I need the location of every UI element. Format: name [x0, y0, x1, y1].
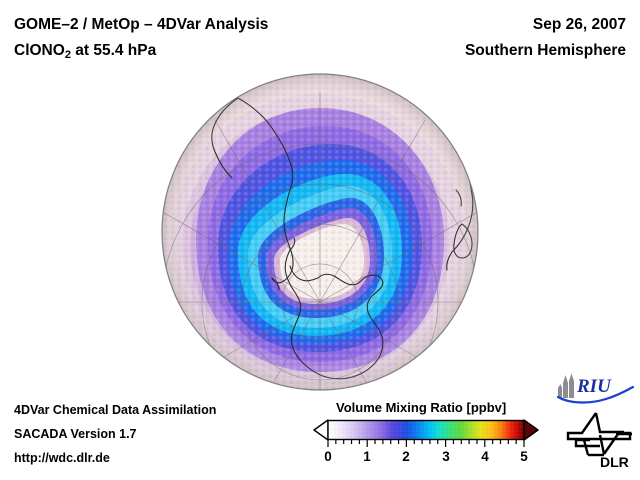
limb-shading	[162, 74, 478, 390]
globe-svg	[160, 72, 480, 392]
footer-line-2: SACADA Version 1.7	[14, 427, 137, 441]
dlr-emblem-icon	[568, 413, 632, 455]
colorbar-tick-5: 5	[520, 449, 528, 464]
colorbar	[312, 418, 540, 442]
riu-logo: RIU	[556, 372, 636, 406]
species-pressure: at 55.4 hPa	[71, 42, 156, 59]
colorbar-tick-3: 3	[442, 449, 450, 464]
footer-line-1: 4DVar Chemical Data Assimilation	[14, 403, 216, 417]
colorbar-tick-1: 1	[363, 449, 371, 464]
polar-globe-map	[160, 72, 480, 392]
footer-url[interactable]: http://wdc.dlr.de	[14, 451, 110, 465]
figure-canvas: GOME–2 / MetOp – 4DVar Analysis ClONO2 a…	[0, 0, 640, 480]
species-name: ClONO	[14, 42, 65, 59]
dlr-logo: DLR	[566, 410, 634, 472]
riu-wordmark: RIU	[576, 376, 612, 397]
date-label: Sep 26, 2007	[533, 16, 626, 34]
colorbar-tick-2: 2	[402, 449, 410, 464]
colorbar-tick-4: 4	[481, 449, 489, 464]
colorbar-title: Volume Mixing Ratio [ppbv]	[336, 400, 506, 415]
colorbar-high-arrow	[524, 420, 538, 440]
dlr-wordmark: DLR	[600, 454, 629, 470]
page-title: GOME–2 / MetOp – 4DVar Analysis	[14, 16, 268, 34]
colorbar-tick-0: 0	[324, 449, 332, 464]
colorbar-low-arrow	[314, 420, 328, 440]
species-subtitle: ClONO2 at 55.4 hPa	[14, 42, 156, 61]
riu-tower-icon	[558, 374, 574, 399]
colorbar-tick-labels: 0 1 2 3 4 5	[300, 449, 552, 469]
hemisphere-label: Southern Hemisphere	[465, 42, 626, 60]
